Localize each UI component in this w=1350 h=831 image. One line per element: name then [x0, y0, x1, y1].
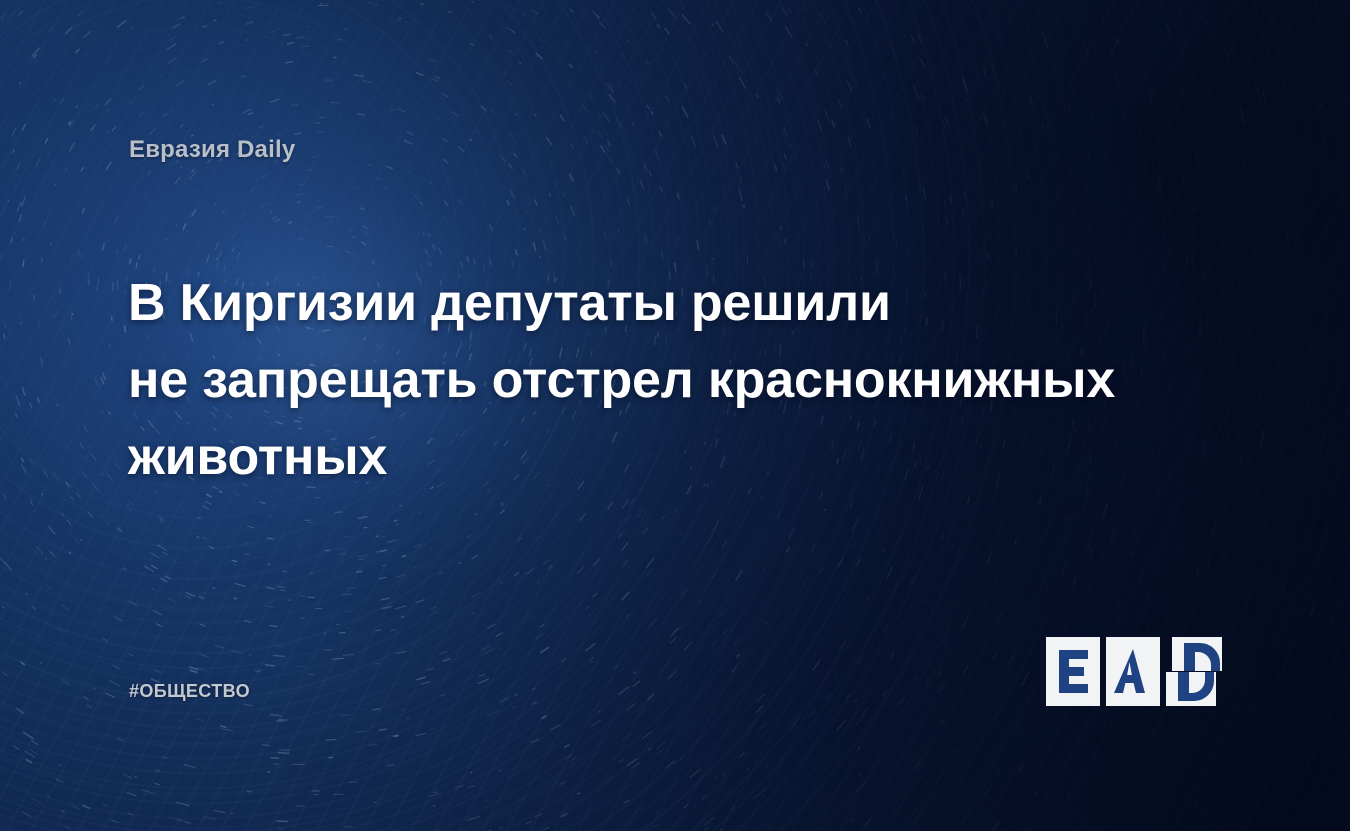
headline-line: не запрещать отстрел краснокнижных: [128, 342, 1218, 419]
eadaily-logo[interactable]: [1046, 625, 1222, 707]
brand-name: Евразия Daily: [129, 136, 295, 164]
poster-content: Евразия Daily В Киргизии депутаты решили…: [0, 0, 1350, 831]
logo-letter-e-icon: [1059, 650, 1088, 693]
headline-line: В Киргизии депутаты решили: [128, 265, 1218, 342]
headline-line: животных: [128, 419, 1218, 496]
news-card-poster: Евразия Daily В Киргизии депутаты решили…: [0, 0, 1350, 831]
category-tag[interactable]: #ОБЩЕСТВО: [129, 681, 250, 702]
page-title: В Киргизии депутаты решили не запрещать …: [128, 265, 1218, 496]
